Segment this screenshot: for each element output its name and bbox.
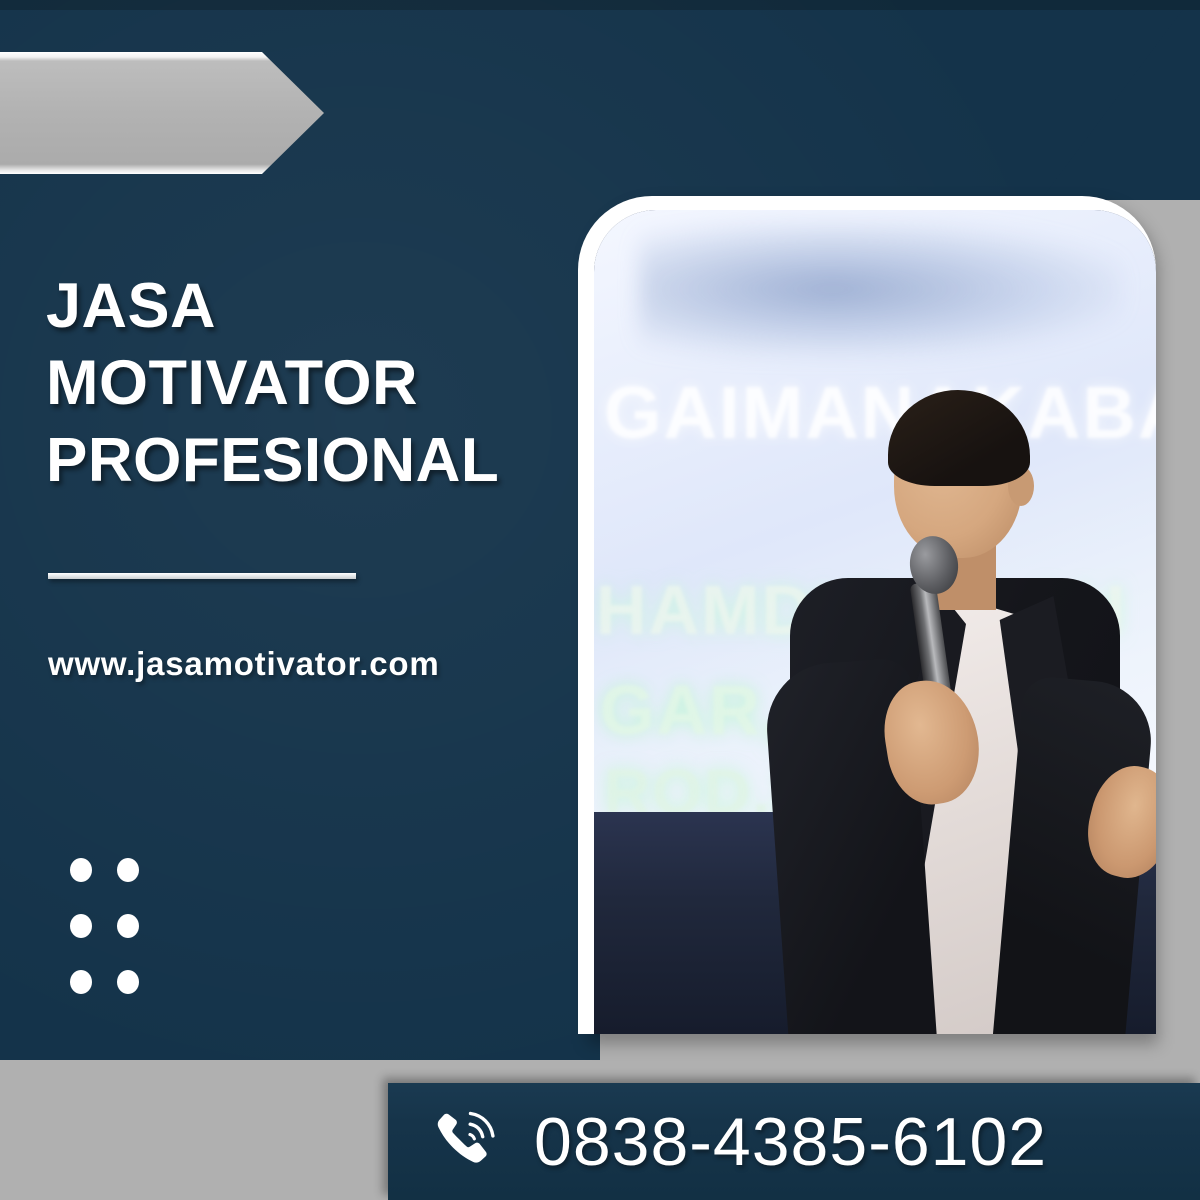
speaker-figure <box>594 210 1156 1034</box>
dot-icon <box>70 858 92 882</box>
headline-line-3: PROFESIONAL <box>46 422 566 499</box>
speaker-photo: GAIMANAKABARI HAMDULILLAH GAR, S ROD.S <box>594 210 1156 1034</box>
website-url[interactable]: www.jasamotivator.com <box>48 645 440 683</box>
contact-bar: 0838-4385-6102 <box>388 1083 1200 1200</box>
phone-ringing-icon <box>434 1108 498 1172</box>
poster-canvas: JASA MOTIVATOR PROFESIONAL www.jasamotiv… <box>0 0 1200 1200</box>
speaker-hair <box>888 390 1030 486</box>
arrow-banner-shape <box>0 52 324 174</box>
dot-icon <box>117 858 139 882</box>
headline-line-2: MOTIVATOR <box>46 345 566 422</box>
phone-number[interactable]: 0838-4385-6102 <box>534 1103 1047 1181</box>
dot-icon <box>70 970 92 994</box>
speaker-photo-card: GAIMANAKABARI HAMDULILLAH GAR, S ROD.S <box>578 196 1156 1034</box>
dot-icon <box>70 914 92 938</box>
page-title: JASA MOTIVATOR PROFESIONAL <box>46 268 566 499</box>
divider-rule <box>48 573 356 579</box>
background-top-strip <box>0 0 1200 10</box>
headline-line-1: JASA <box>46 268 566 345</box>
contact-bar-content: 0838-4385-6102 <box>388 1083 1200 1200</box>
dot-icon <box>117 970 139 994</box>
dot-icon <box>117 914 139 938</box>
dot-grid-decoration <box>70 858 139 992</box>
